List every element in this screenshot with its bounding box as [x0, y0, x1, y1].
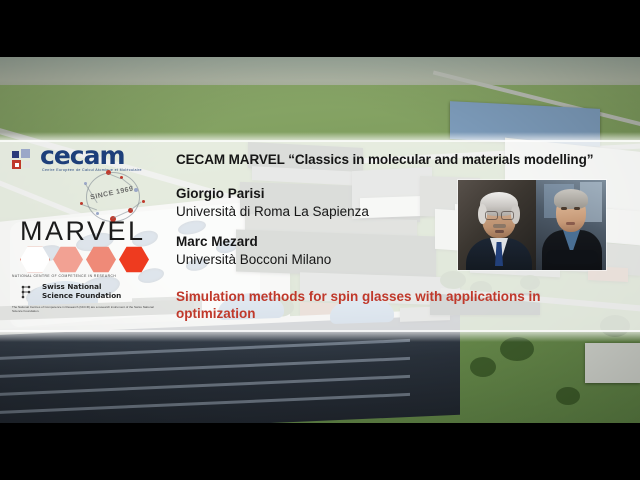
cecam-logo-squares	[12, 149, 38, 171]
parisi-moustache	[493, 224, 506, 228]
parisi-glasses	[501, 211, 514, 220]
parisi-mouth	[495, 230, 504, 233]
marvel-hexagon	[119, 246, 149, 273]
speakers-photo	[458, 180, 606, 270]
mezard-crossed-arms	[546, 250, 598, 264]
snsf-fine-print: The National Centres of Competence in Re…	[12, 305, 162, 314]
talk-title: Simulation methods for spin glasses with…	[176, 288, 591, 322]
snsf-name: Swiss National Science Foundation	[42, 282, 121, 300]
speaker-item: Marc Mezard Università Bocconi Milano	[176, 233, 466, 269]
logo-column: cecam Centre Européen de Calcul Atomique…	[0, 138, 168, 333]
photo-building	[585, 343, 640, 383]
mezard-eye	[561, 207, 567, 210]
cecam-wordmark: cecam	[40, 143, 125, 169]
speaker-affiliation: Università Bocconi Milano	[176, 251, 466, 269]
letterbox-bottom	[0, 423, 640, 480]
nccr-label: NATIONAL CENTRE OF COMPETENCE IN RESEARC…	[12, 274, 116, 278]
snsf-name-line1: Swiss National	[42, 282, 121, 291]
marvel-hexagon	[86, 246, 116, 273]
speaker-list: Giorgio Parisi Università di Roma La Sap…	[176, 185, 466, 281]
slide-content: CECAM MARVEL “Classics in molecular and …	[176, 140, 640, 332]
mezard-mouth	[566, 222, 575, 225]
marvel-hexagon	[20, 246, 50, 273]
speaker-name: Marc Mezard	[176, 233, 466, 251]
speaker-item: Giorgio Parisi Università di Roma La Sap…	[176, 185, 466, 221]
marvel-hexagon	[53, 246, 83, 273]
page-title: CECAM MARVEL “Classics in molecular and …	[176, 152, 616, 167]
video-frame: cecam Centre Européen de Calcul Atomique…	[0, 0, 640, 480]
marvel-logo: MARVEL	[16, 216, 156, 276]
letterbox-top	[0, 0, 640, 57]
mezard-eye	[574, 207, 580, 210]
speaker-name: Giorgio Parisi	[176, 185, 466, 203]
snsf-logo: Swiss National Science Foundation	[20, 282, 160, 304]
marvel-wordmark: MARVEL	[16, 216, 156, 246]
snsf-mark-icon	[20, 284, 36, 300]
mezard-hair	[554, 189, 588, 209]
marvel-hexagons	[20, 246, 149, 273]
parisi-glasses	[485, 211, 498, 220]
speaker-affiliation: Università di Roma La Sapienza	[176, 203, 466, 221]
snsf-name-line2: Science Foundation	[42, 291, 121, 300]
